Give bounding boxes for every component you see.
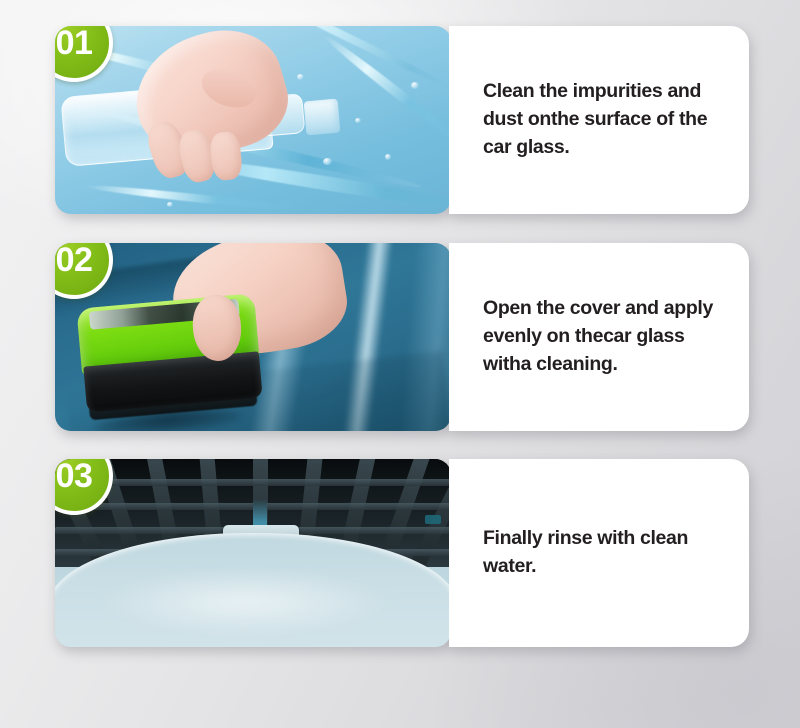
step-3-text-panel: Finally rinse with clean water. bbox=[449, 459, 749, 647]
ceiling-slat bbox=[55, 479, 451, 486]
water-streak bbox=[85, 183, 305, 214]
water-streak bbox=[321, 32, 451, 151]
hood-highlight bbox=[95, 567, 395, 637]
step-3-instruction: Finally rinse with clean water. bbox=[483, 525, 735, 580]
step-2-text-panel: Open the cover and apply evenly on theca… bbox=[449, 243, 749, 431]
water-droplet bbox=[297, 74, 304, 80]
step-1-text-panel: Clean the impurities and dust onthe surf… bbox=[449, 26, 749, 214]
water-droplet bbox=[355, 118, 361, 123]
step-number-label: 01 bbox=[56, 26, 93, 60]
step-number-label: 02 bbox=[56, 243, 93, 277]
step-number-badge-1: 01 bbox=[55, 26, 113, 82]
water-droplet bbox=[323, 158, 332, 165]
step-card-3[interactable]: 03 Finally rinse with clean water. bbox=[55, 459, 749, 647]
step-1-instruction: Clean the impurities and dust onthe surf… bbox=[483, 78, 735, 161]
step-number-label: 03 bbox=[56, 459, 93, 493]
step-2-instruction: Open the cover and apply evenly on theca… bbox=[483, 295, 735, 378]
step-1-image: 01 bbox=[55, 26, 451, 214]
steps-list: 01 Clean the impurities and dust onthe s… bbox=[0, 0, 800, 728]
step-3-image: 03 bbox=[55, 459, 451, 647]
step-card-2[interactable]: 02 Open the cover and apply evenly on th… bbox=[55, 243, 749, 431]
water-droplet bbox=[411, 82, 419, 89]
water-droplet bbox=[385, 154, 391, 160]
bottle-neck bbox=[304, 99, 341, 136]
step-card-1[interactable]: 01 Clean the impurities and dust onthe s… bbox=[55, 26, 749, 214]
step-2-image: 02 bbox=[55, 243, 451, 431]
windshield-sticker bbox=[425, 515, 441, 524]
water-droplet bbox=[167, 202, 173, 207]
